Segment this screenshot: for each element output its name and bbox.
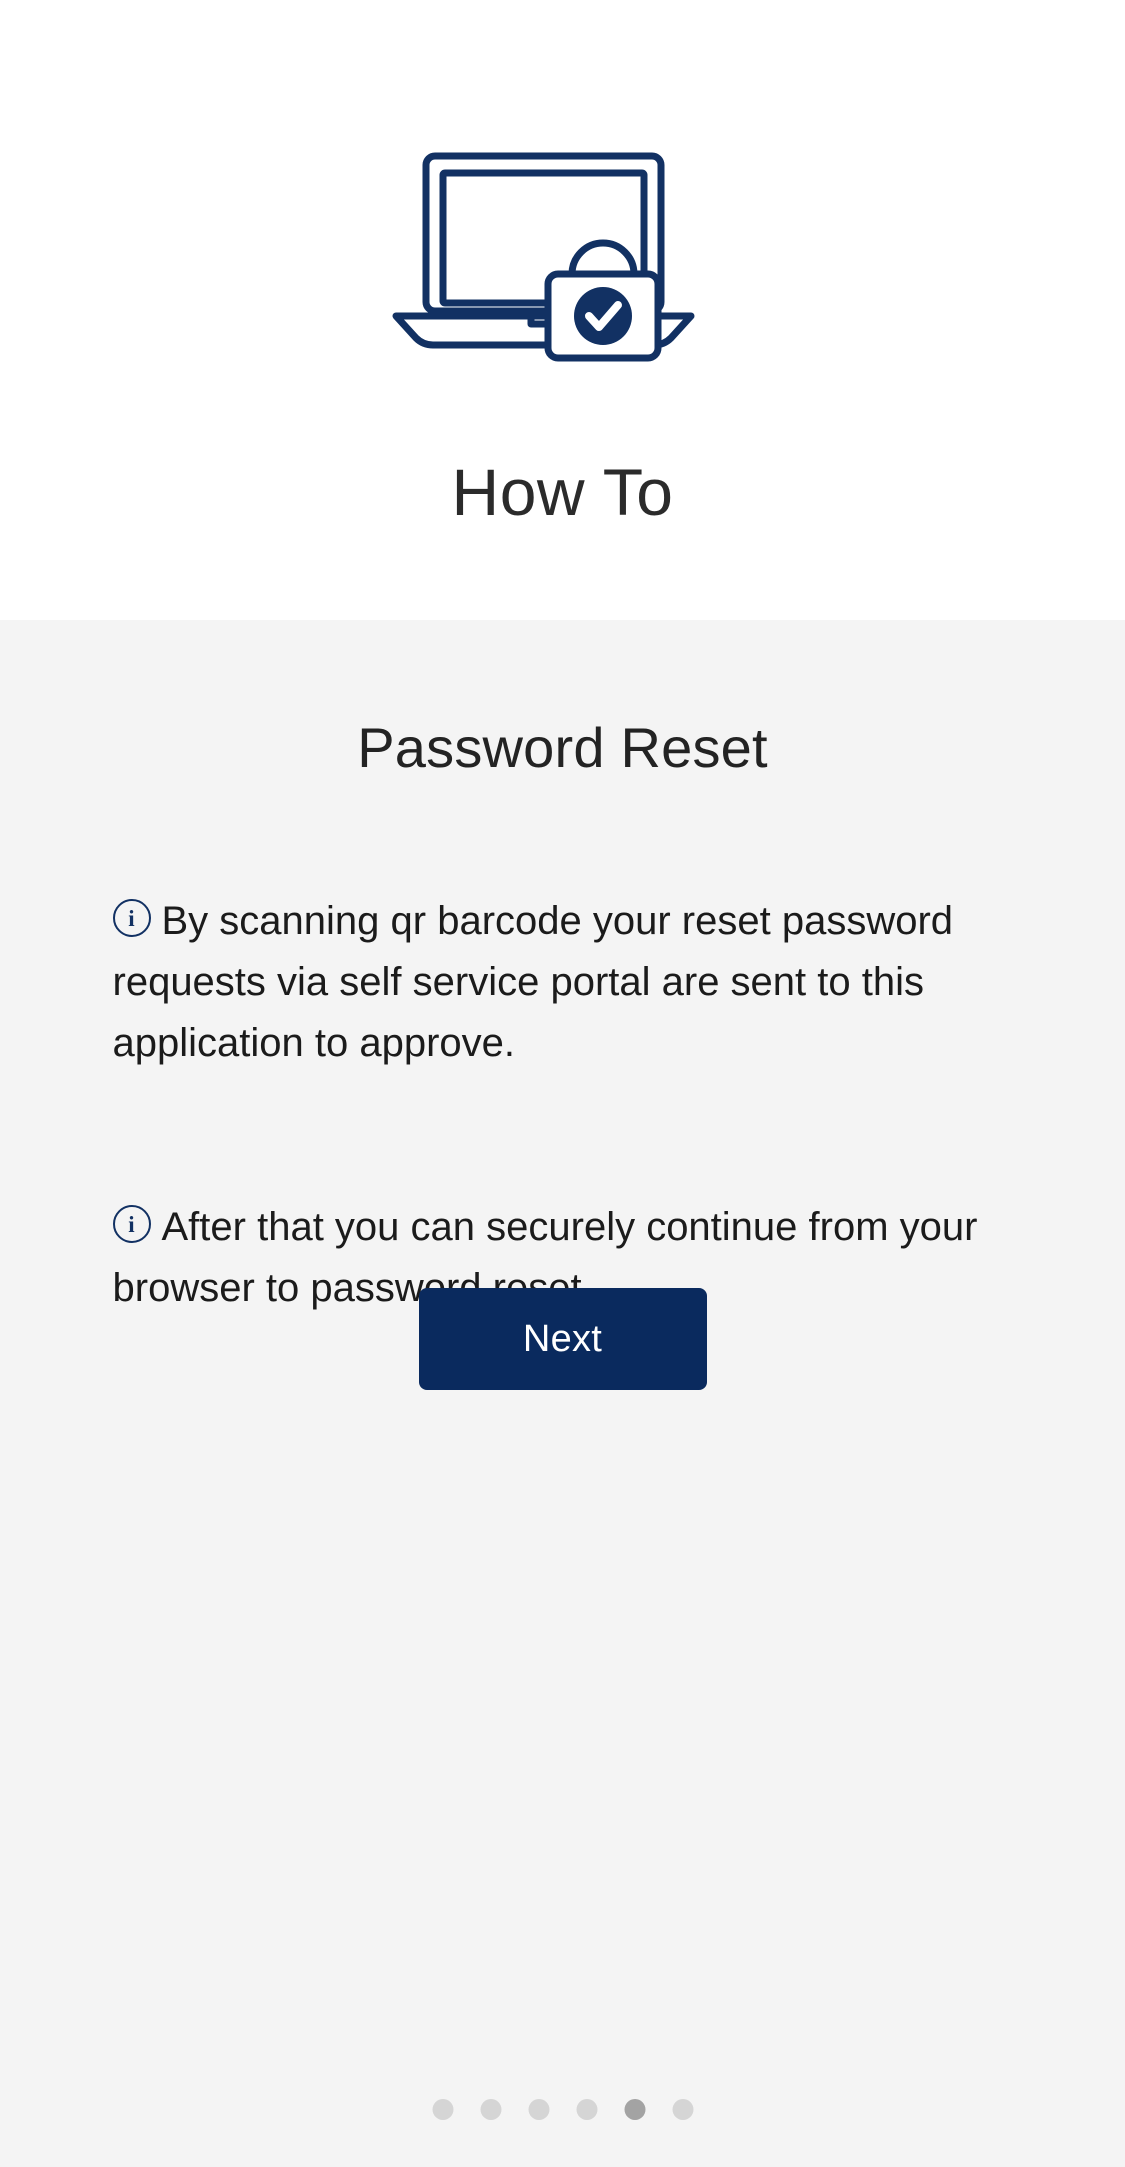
onboarding-screen: How To Password Reset By scanning qr bar… bbox=[0, 0, 1125, 2167]
info-list: By scanning qr barcode your reset passwo… bbox=[113, 851, 1013, 1359]
pagination-dot-1[interactable] bbox=[432, 2099, 453, 2120]
section-heading: Password Reset bbox=[357, 720, 768, 776]
pagination-dots bbox=[432, 2099, 693, 2120]
info-item-text: By scanning qr barcode your reset passwo… bbox=[113, 899, 954, 1065]
pagination-dot-2[interactable] bbox=[480, 2099, 501, 2120]
pagination-dot-5[interactable] bbox=[624, 2099, 645, 2120]
laptop-with-padlock-illustration bbox=[388, 148, 738, 363]
info-circle-icon bbox=[113, 899, 151, 937]
hero-section: How To bbox=[0, 0, 1125, 620]
pagination-dot-4[interactable] bbox=[576, 2099, 597, 2120]
info-circle-icon bbox=[113, 1205, 151, 1243]
page-title: How To bbox=[452, 459, 674, 525]
content-panel: Password Reset By scanning qr barcode yo… bbox=[0, 620, 1125, 2167]
next-button[interactable]: Next bbox=[419, 1288, 707, 1390]
info-item: By scanning qr barcode your reset passwo… bbox=[113, 891, 1013, 1073]
pagination-dot-6[interactable] bbox=[672, 2099, 693, 2120]
pagination-dot-3[interactable] bbox=[528, 2099, 549, 2120]
